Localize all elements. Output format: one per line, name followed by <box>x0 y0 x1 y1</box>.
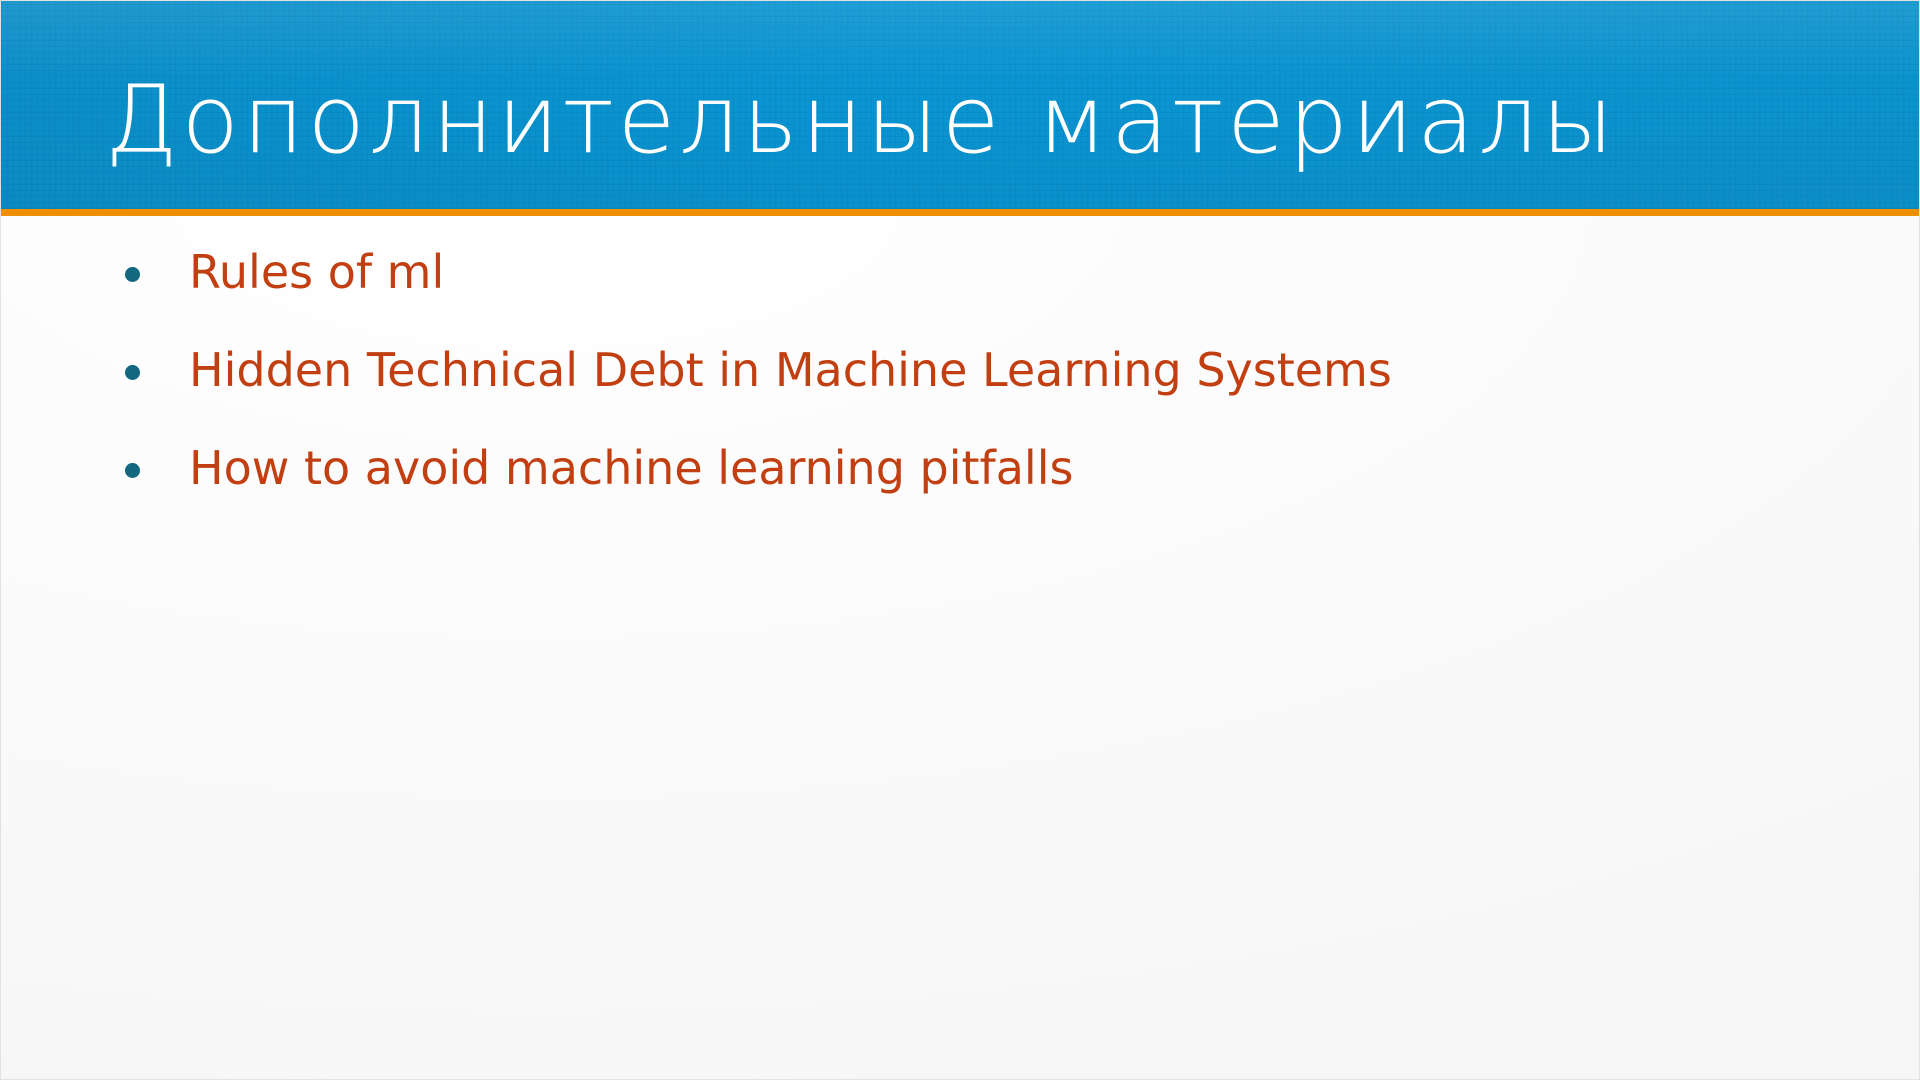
list-item[interactable]: Hidden Technical Debt in Machine Learnin… <box>119 339 1839 401</box>
slide-content-area: Rules of ml Hidden Technical Debt in Mac… <box>1 216 1920 1080</box>
header-accent-rule <box>1 209 1920 216</box>
bullet-dot-icon <box>125 267 140 282</box>
list-item[interactable]: How to avoid machine learning pitfalls <box>119 437 1839 499</box>
presentation-slide: Дополнительные материалы Rules of ml Hid… <box>0 0 1920 1080</box>
list-item-label: How to avoid machine learning pitfalls <box>189 437 1839 499</box>
bullet-dot-icon <box>125 365 140 380</box>
list-item-label: Rules of ml <box>189 241 1839 303</box>
list-item[interactable]: Rules of ml <box>119 241 1839 303</box>
slide-title: Дополнительные материалы <box>105 51 1825 191</box>
bullet-list: Rules of ml Hidden Technical Debt in Mac… <box>119 241 1839 535</box>
slide-header-band: Дополнительные материалы <box>1 1 1920 209</box>
list-item-label: Hidden Technical Debt in Machine Learnin… <box>189 339 1839 401</box>
bullet-dot-icon <box>125 463 140 478</box>
